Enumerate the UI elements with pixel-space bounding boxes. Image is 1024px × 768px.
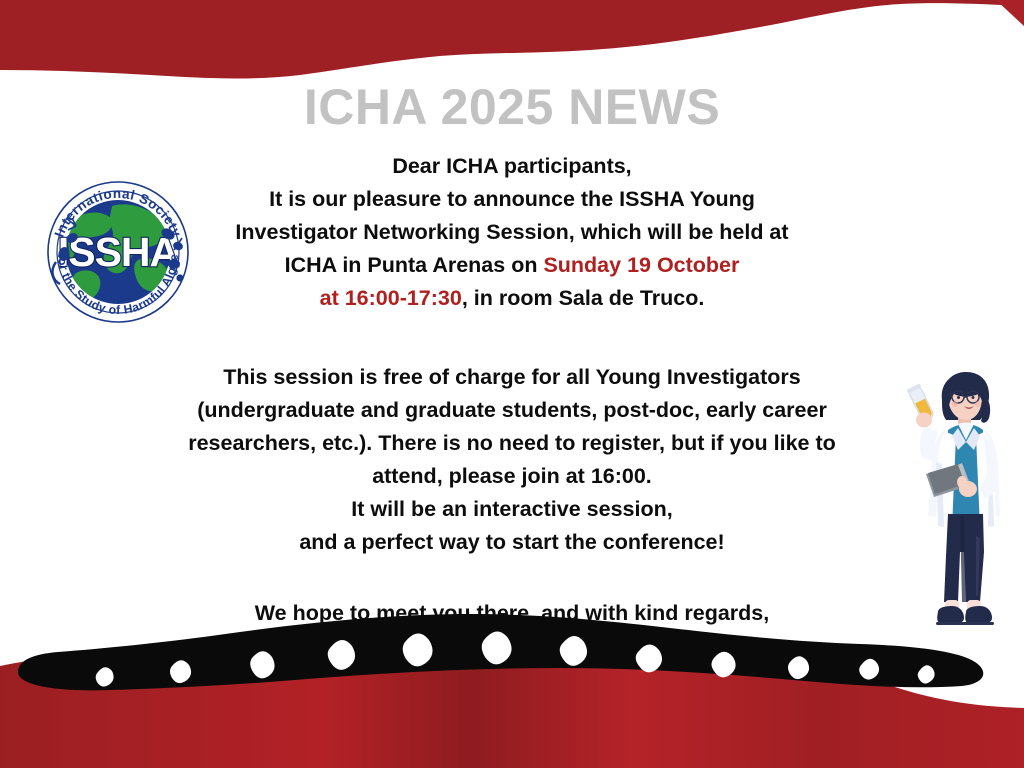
test-tube-icon — [906, 383, 935, 427]
closing-line-1: We hope to meet you there, and with kind… — [255, 601, 770, 625]
details-line-1: This session is free of charge for all Y… — [223, 365, 800, 389]
details-line-3: researchers, etc.). There is no need to … — [188, 431, 836, 455]
signature-line: Misty Peacock & Megan Schulz. — [350, 634, 675, 658]
shoes-icon — [937, 606, 992, 624]
paragraph-intro: Dear ICHA participants, It is our pleasu… — [132, 150, 892, 315]
event-date: Sunday 19 October — [543, 253, 739, 277]
event-room: , in room Sala de Truco. — [462, 286, 705, 310]
paragraph-closing: We hope to meet you there, and with kind… — [132, 597, 892, 663]
scientist-illustration — [888, 366, 1008, 638]
red-corner-triangle — [0, 0, 1024, 40]
paragraph-details: This session is free of charge for all Y… — [132, 361, 892, 559]
details-line-4: attend, please join at 16:00. — [372, 464, 652, 488]
details-line-5: It will be an interactive session, — [351, 497, 672, 521]
details-line-6: and a perfect way to start the conferenc… — [299, 530, 724, 554]
intro-line-1: It is our pleasure to announce the ISSHA… — [269, 187, 755, 211]
page-title: ICHA 2025 NEWS — [0, 79, 1024, 135]
details-line-2: (undergraduate and graduate students, po… — [197, 398, 827, 422]
intro-line-3: ICHA in Punta Arenas on — [285, 253, 544, 277]
salutation-line: Dear ICHA participants, — [392, 154, 631, 178]
poster-canvas: ICHA 2025 NEWS ISSHA International Socie… — [0, 0, 1024, 768]
intro-line-2: Investigator Networking Session, which w… — [235, 220, 788, 244]
announcement-body: Dear ICHA participants, It is our pleasu… — [132, 150, 892, 663]
event-time: at 16:00-17:30 — [320, 286, 462, 310]
red-wave-top — [0, 0, 1024, 80]
